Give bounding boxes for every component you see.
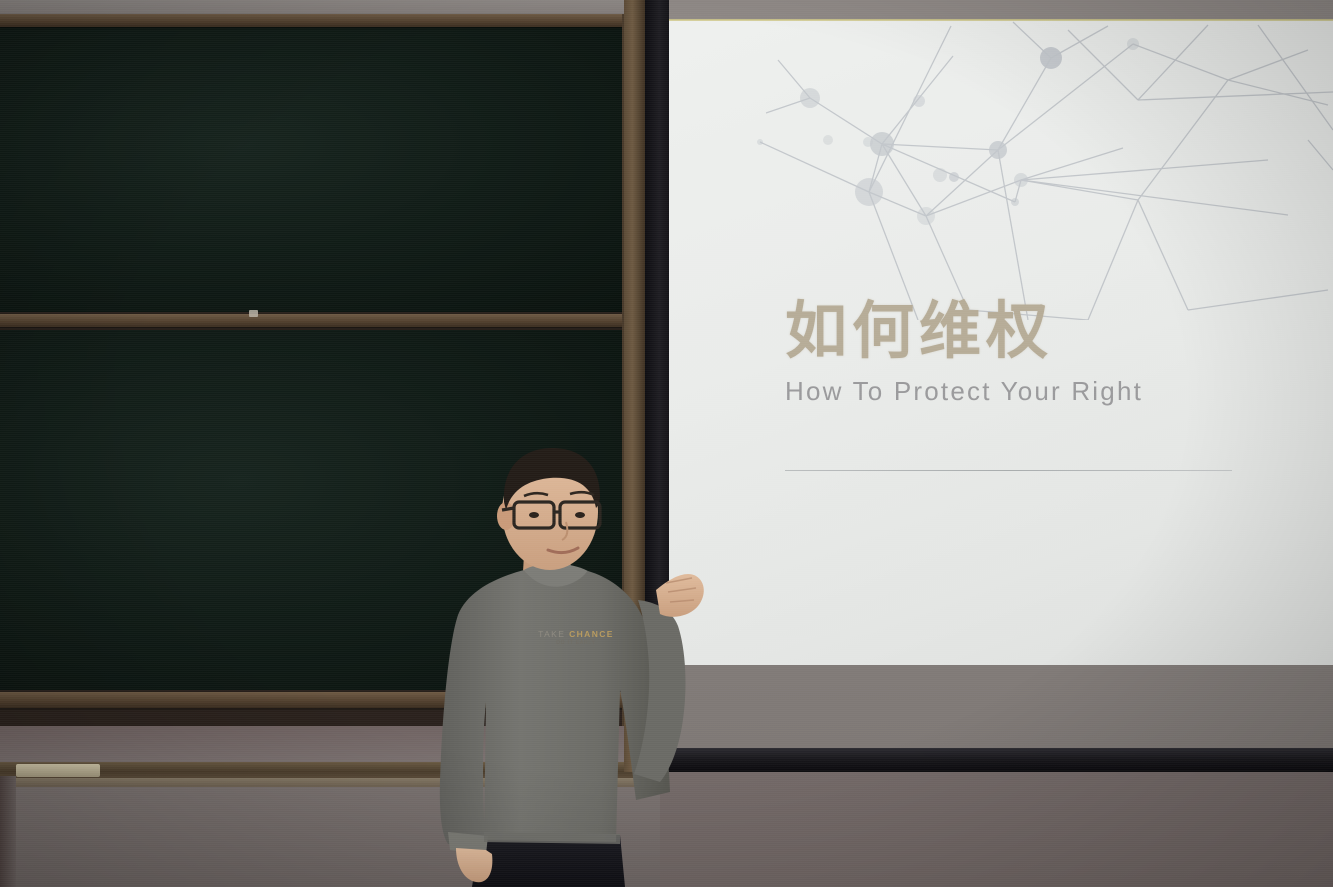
presenter-eye-right <box>575 512 585 518</box>
network-decoration-icon <box>668 20 1333 320</box>
presenter-hem <box>484 832 620 844</box>
eraser-icon <box>16 764 100 777</box>
chalk-piece-icon <box>249 310 258 317</box>
slide-text-block: 如何维权 How To Protect Your Right <box>785 300 1255 407</box>
chalkboard-panel-upper <box>0 24 640 312</box>
slide-divider-rule <box>785 470 1232 471</box>
presenter <box>420 440 720 887</box>
left-wall-post <box>0 776 16 887</box>
sweatshirt-graphic-sub: DO IT EARLY <box>534 640 618 646</box>
presenter-sweatshirt <box>440 570 670 850</box>
slide-title: 如何维权 <box>785 300 1255 362</box>
chalkboard-rail-top <box>0 14 642 27</box>
projector-frame-bottom-bar <box>645 748 1333 770</box>
slide-subtitle: How To Protect Your Right <box>785 376 1255 407</box>
presenter-left-hand <box>456 848 492 882</box>
classroom-photo: 如何维权 How To Protect Your Right <box>0 0 1333 887</box>
projected-slide: 如何维权 How To Protect Your Right <box>668 20 1333 665</box>
chalkboard-rail-middle <box>0 314 642 327</box>
slide-top-edge-line <box>668 19 1333 21</box>
presenter-eye-left <box>529 512 539 518</box>
